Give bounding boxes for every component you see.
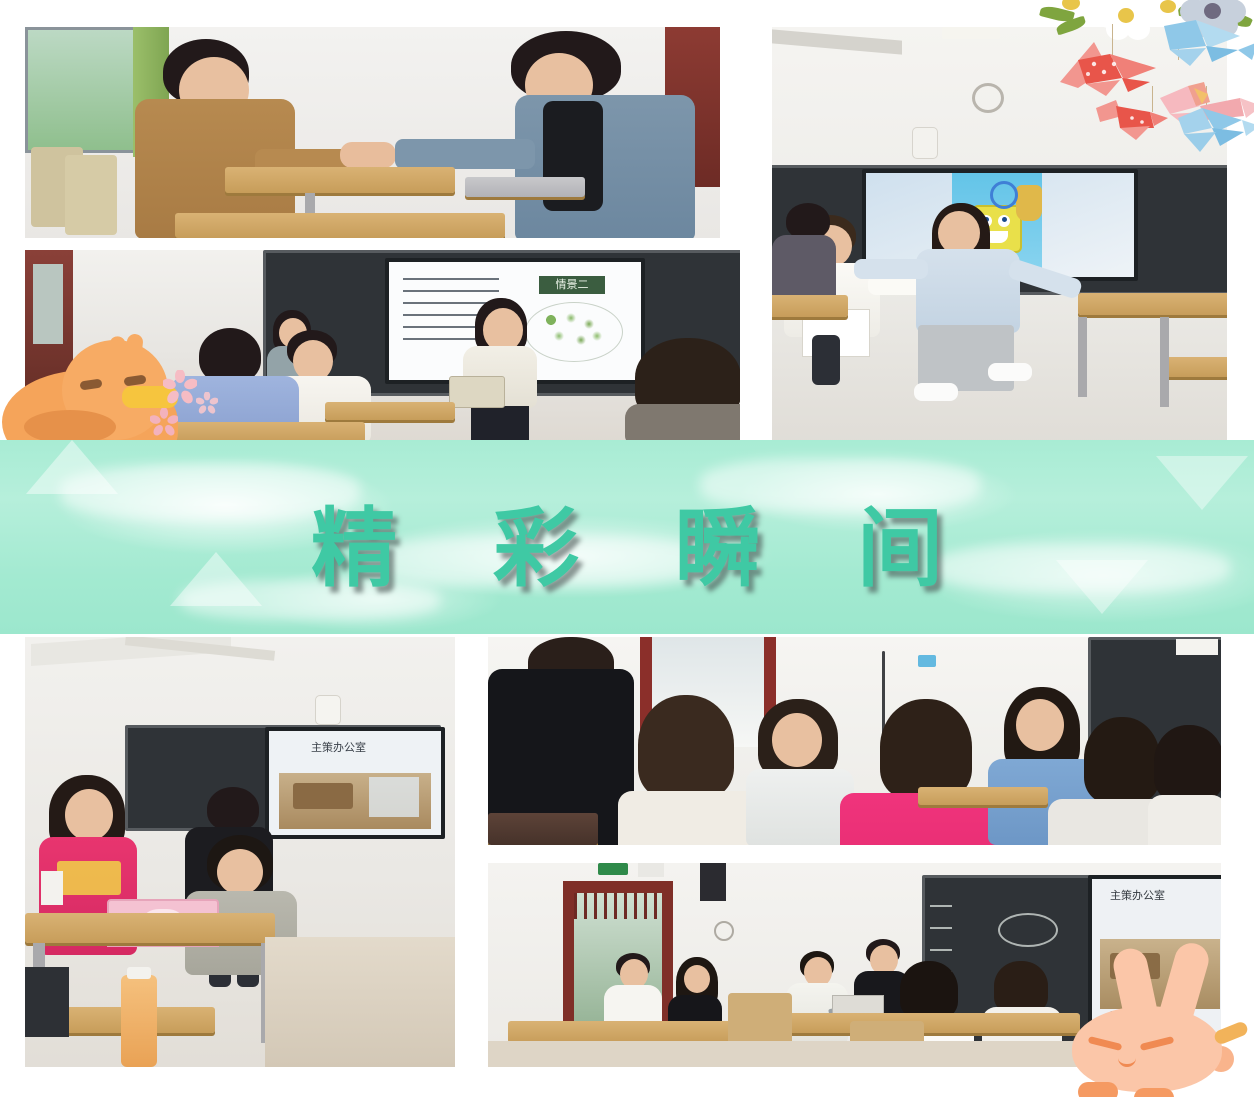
screen-caption: 主策办公室 [311,739,366,755]
photo-bottom-middle [488,637,1221,845]
sakura-petal [163,370,197,409]
poster-canvas: 情景二 [0,0,1254,1097]
person-pink-back [840,699,1010,845]
title-banner: 精彩瞬间 [0,440,1254,634]
flower-white [1096,0,1158,42]
smart-board: 主策办公室 [265,727,445,839]
foreground-student [625,338,740,443]
crane-blue-top [1160,18,1254,74]
sakura-petal [150,408,178,441]
crane-blue-lower [1176,104,1254,156]
screen-caption: 情景二 [539,276,605,294]
student-right [465,31,705,238]
water-bottle [121,975,157,1067]
rabbit-sticker [1062,948,1242,1097]
presenter [455,298,545,443]
screen-caption: 主策办公室 [1110,887,1165,903]
student-running [912,203,1052,403]
crane-red [1050,38,1170,100]
photo-bottom-left: 主策办公室 [25,637,455,1067]
person-right-edge [1148,725,1221,845]
banner-title: 精彩瞬间 [0,490,1254,590]
photo-top-left [25,27,720,238]
crane-red-small [1092,98,1170,142]
student-left [125,37,325,237]
window [25,27,139,153]
sakura-petal [196,392,218,419]
